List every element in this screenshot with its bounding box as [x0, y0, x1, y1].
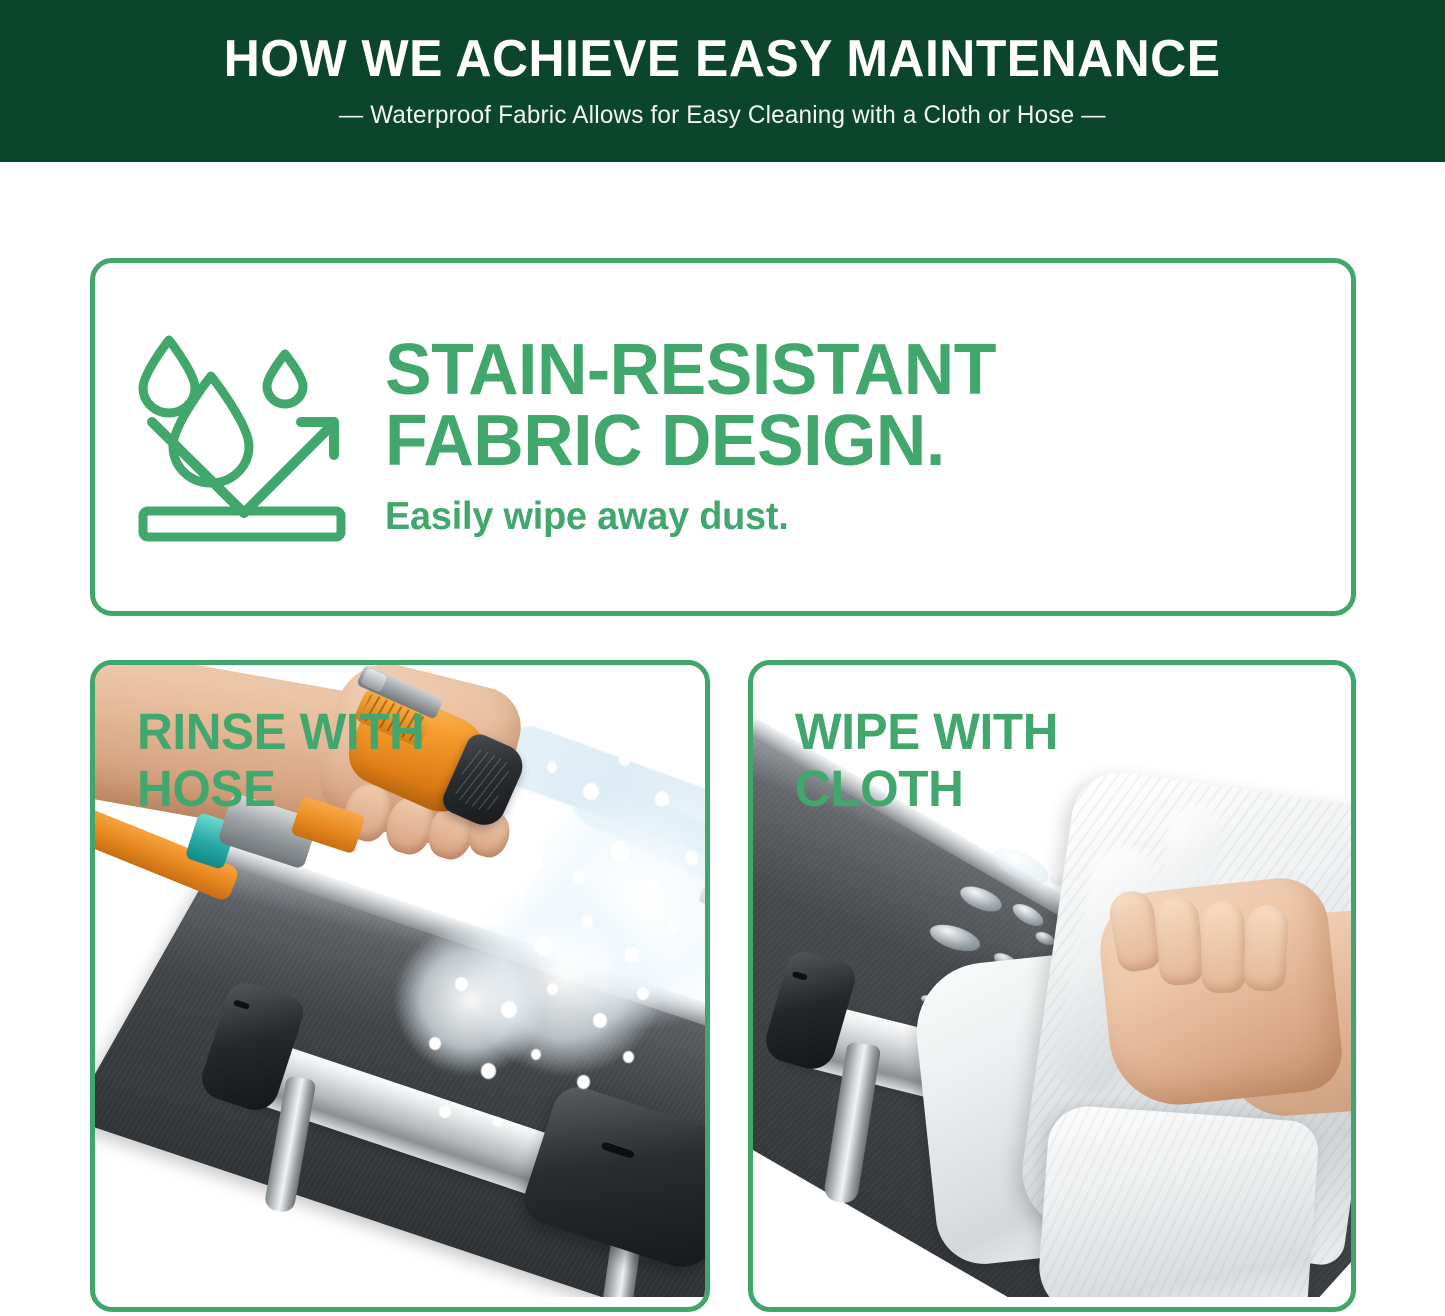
water-droplet [581, 915, 593, 928]
rinse-heading-line2: HOSE [137, 760, 424, 817]
rinse-card-heading: RINSE WITH HOSE [137, 703, 424, 817]
water-droplet [655, 791, 669, 807]
stain-resistant-text-block: STAIN-RESISTANT FABRIC DESIGN. Easily wi… [385, 335, 1351, 540]
water-droplet [439, 1105, 451, 1118]
water-droplet [429, 1037, 441, 1050]
water-droplet [535, 937, 552, 956]
water-droplet [481, 1063, 496, 1079]
finger [1243, 904, 1289, 992]
finger [1200, 901, 1246, 994]
water-droplet [623, 1051, 634, 1063]
infographic-page: HOW WE ACHIEVE EASY MAINTENANCE — Waterp… [0, 0, 1445, 1316]
hero-heading-line1: STAIN-RESISTANT [385, 335, 1293, 406]
wipe-with-cloth-card: WIPE WITH CLOTH [748, 660, 1356, 1312]
water-repellent-droplets-icon [95, 328, 385, 546]
water-droplet [577, 1075, 590, 1089]
water-droplet [583, 783, 599, 800]
page-subtitle: — Waterproof Fabric Allows for Easy Clea… [339, 101, 1106, 130]
water-droplet [593, 1013, 607, 1028]
stain-resistant-card: STAIN-RESISTANT FABRIC DESIGN. Easily wi… [90, 258, 1356, 616]
finger [1153, 895, 1205, 987]
cloth-lower-drape [1036, 1104, 1320, 1307]
page-title: HOW WE ACHIEVE EASY MAINTENANCE [224, 32, 1221, 87]
water-splash-cloud [395, 925, 545, 1075]
water-droplet [547, 761, 557, 773]
water-droplet [527, 853, 542, 871]
water-droplet [611, 841, 629, 861]
water-droplet [647, 879, 658, 891]
photo-bottom-mask [95, 1297, 705, 1307]
water-droplet [619, 755, 630, 766]
water-droplet [669, 921, 679, 932]
wipe-heading-line2: CLOTH [795, 760, 1058, 817]
hero-heading-line2: FABRIC DESIGN. [385, 406, 1293, 477]
water-droplet [501, 1001, 517, 1018]
photo-bottom-mask [753, 1297, 1351, 1307]
water-droplet [691, 773, 700, 783]
wipe-card-heading: WIPE WITH CLOTH [795, 703, 1058, 817]
water-droplet [685, 851, 698, 865]
water-droplet [637, 987, 649, 1000]
header-banner: HOW WE ACHIEVE EASY MAINTENANCE — Waterp… [0, 0, 1445, 162]
water-droplet [625, 947, 640, 963]
wipe-heading-line1: WIPE WITH [795, 703, 1058, 760]
water-droplet [491, 911, 505, 926]
water-droplet [531, 1049, 541, 1060]
water-droplet [493, 1117, 502, 1127]
water-droplet [573, 871, 585, 884]
rinse-with-hose-card: RINSE WITH HOSE [90, 660, 710, 1312]
water-droplet [455, 977, 468, 991]
hero-subheading: Easily wipe away dust. [385, 495, 1293, 539]
water-droplet [547, 983, 558, 995]
rinse-heading-line1: RINSE WITH [137, 703, 424, 760]
